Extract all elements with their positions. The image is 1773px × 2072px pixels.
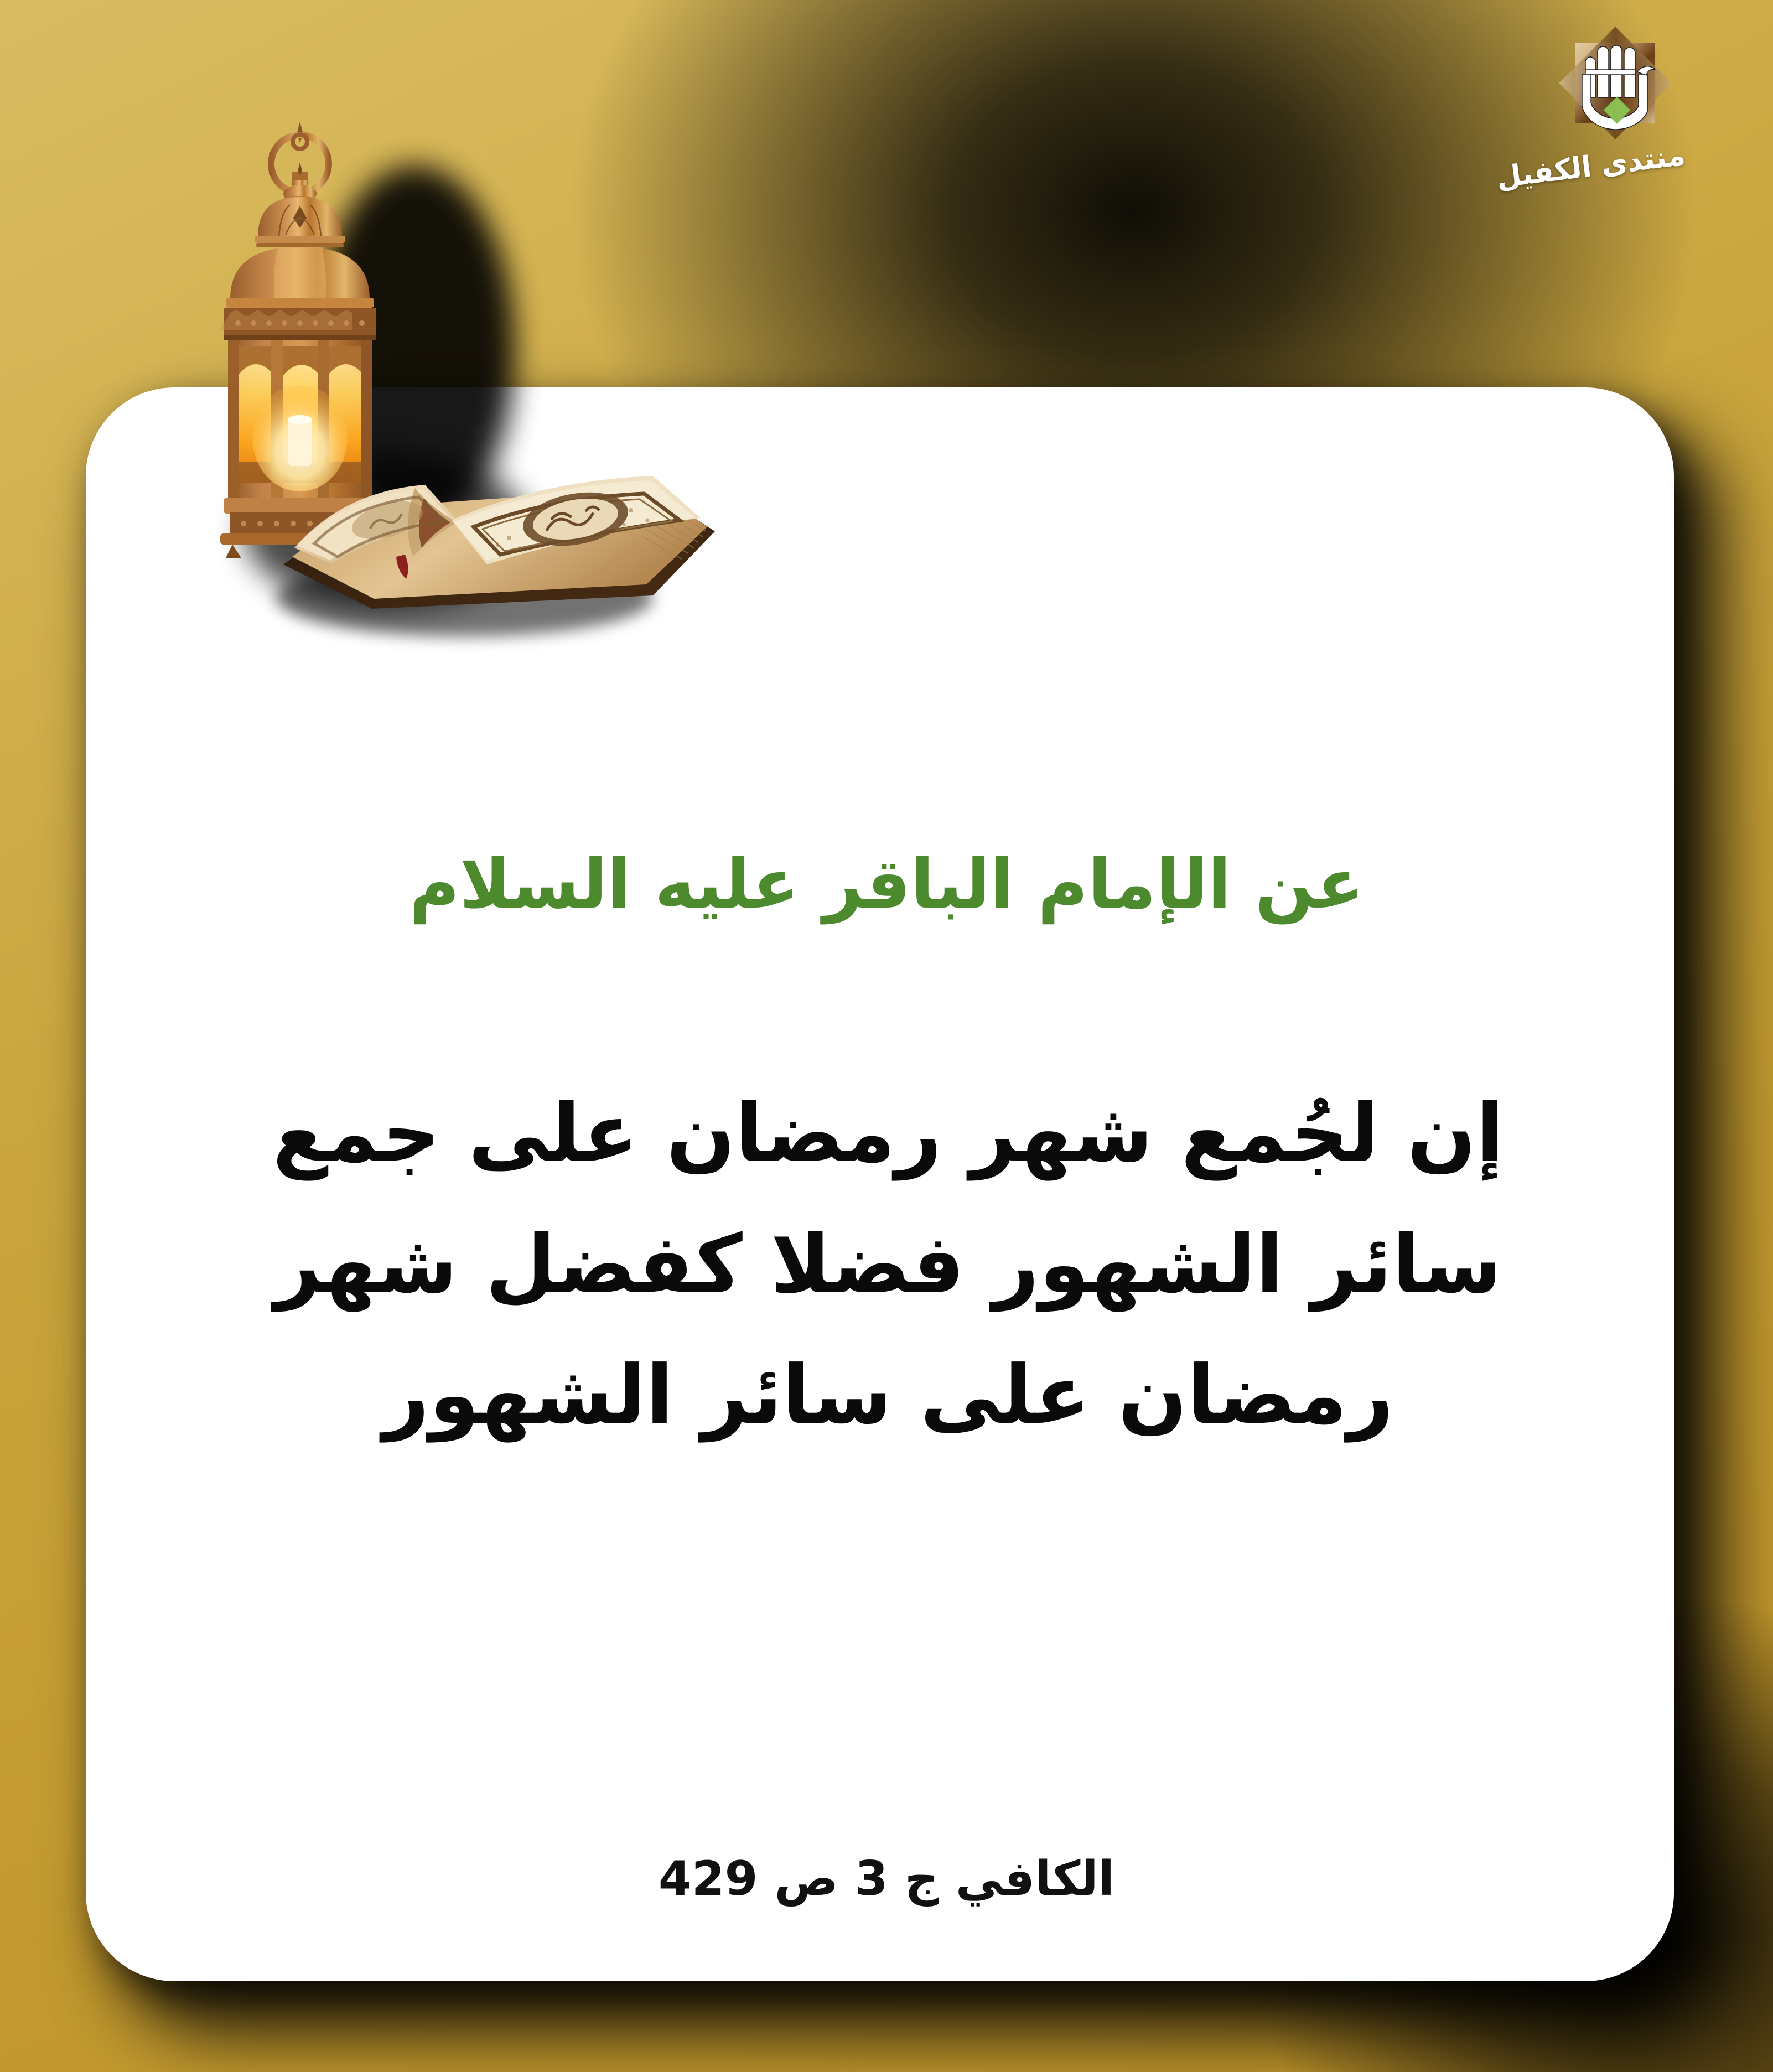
quote-attribution-heading: عن الإمام الباقر عليه السلام — [0, 847, 1773, 922]
ramadan-artwork — [155, 111, 742, 664]
quote-line-1: إن لجُمع شهر رمضان على جمع — [238, 1068, 1538, 1199]
quote-line-2: سائر الشهور فضلا كفضل شهر — [238, 1199, 1538, 1330]
quote-body: إن لجُمع شهر رمضان على جمع سائر الشهور ف… — [238, 1068, 1538, 1461]
quote-line-3: رمضان على سائر الشهور — [238, 1330, 1538, 1461]
brand-logo[interactable]: منتدى الكفيل — [1535, 17, 1718, 216]
poster-canvas: منتدى الكفيل — [0, 0, 1773, 2072]
source-citation: الكافي ج 3 ص 429 — [0, 1851, 1773, 1907]
ramadan-lantern-icon — [219, 122, 382, 558]
kafeel-star-logo-icon — [1549, 17, 1682, 149]
